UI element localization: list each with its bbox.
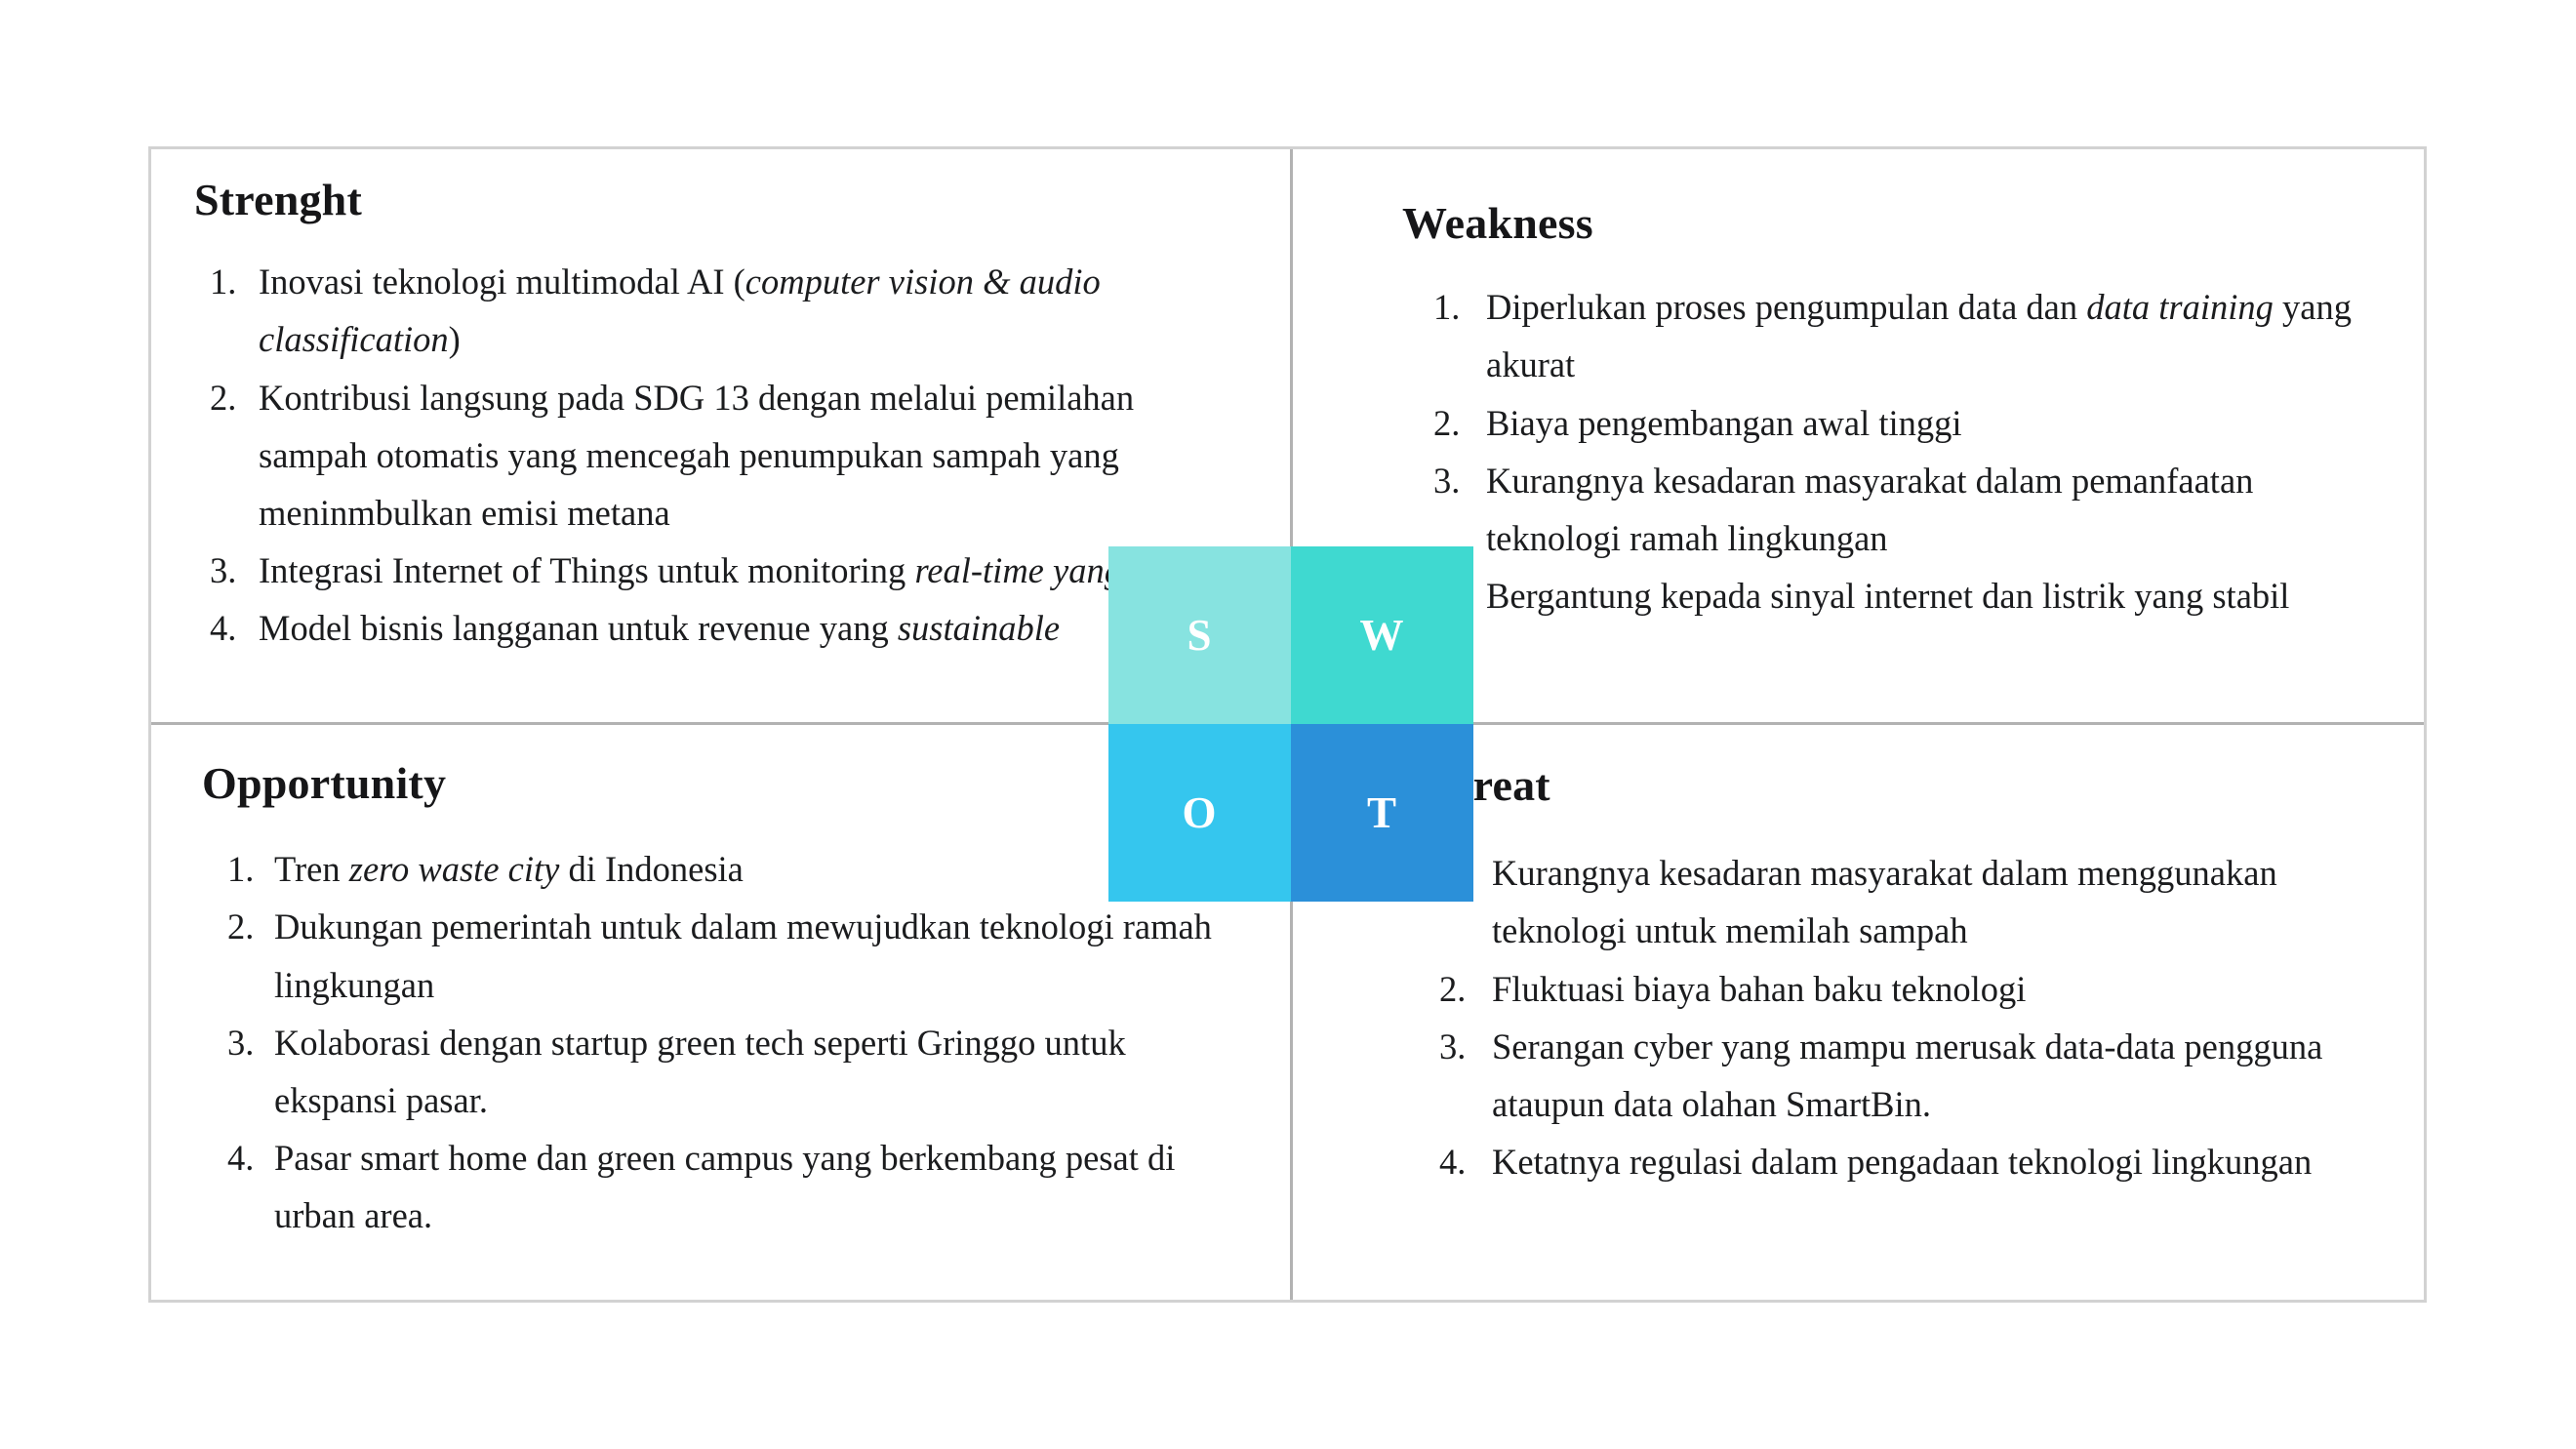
list-item: Kurangnya kesadaran masyarakat dalam men…	[1439, 844, 2395, 959]
plain-text: Fluktuasi biaya bahan baku teknologi	[1492, 969, 2026, 1009]
emphasis-text: sustainable	[898, 608, 1060, 648]
weakness-list: Diperlukan proses pengumpulan data dan d…	[1433, 278, 2395, 624]
plain-text: Kurangnya kesadaran masyarakat dalam pem…	[1486, 461, 2253, 558]
list-item: Pasar smart home dan green campus yang b…	[227, 1129, 1251, 1244]
list-item: Inovasi teknologi multimodal AI (compute…	[210, 253, 1251, 368]
swot-center-blocks: S W O T	[1108, 546, 1473, 902]
plain-text: Ketatnya regulasi dalam pengadaan teknol…	[1492, 1142, 2312, 1182]
plain-text: Inovasi teknologi multimodal AI (	[259, 262, 745, 302]
list-item: Kontribusi langsung pada SDG 13 dengan m…	[210, 369, 1251, 542]
list-item: Biaya pengembangan awal tinggi	[1433, 394, 2395, 452]
plain-text: )	[449, 319, 461, 359]
strength-list: Inovasi teknologi multimodal AI (compute…	[210, 253, 1251, 657]
plain-text: Diperlukan proses pengumpulan data dan	[1486, 287, 2086, 327]
plain-text: Tren	[274, 849, 349, 889]
quadrant-title-opportunity: Opportunity	[202, 760, 1251, 807]
swot-block-letter-w: W	[1360, 610, 1405, 661]
list-item: Diperlukan proses pengumpulan data dan d…	[1433, 278, 2395, 393]
plain-text: Serangan cyber yang mampu merusak data-d…	[1492, 1026, 2322, 1124]
plain-text: Biaya pengembangan awal tinggi	[1486, 403, 1962, 443]
swot-block-letter-o: O	[1182, 787, 1217, 838]
opportunity-list: Tren zero waste city di IndonesiaDukunga…	[227, 840, 1251, 1244]
list-item: Bergantung kepada sinyal internet dan li…	[1433, 567, 2395, 624]
emphasis-text: zero waste city	[349, 849, 560, 889]
emphasis-text: data training	[2086, 287, 2274, 327]
plain-text: Pasar smart home dan green campus yang b…	[274, 1138, 1175, 1235]
list-item: Kurangnya kesadaran masyarakat dalam pem…	[1433, 452, 2395, 567]
swot-block-o: O	[1108, 724, 1291, 902]
swot-block-letter-s: S	[1187, 610, 1212, 661]
quadrant-title-weakness: Weakness	[1402, 200, 2395, 247]
list-item: Tren zero waste city di Indonesia	[227, 840, 1251, 898]
quadrant-title-threat: Threat	[1418, 762, 2395, 809]
swot-block-letter-t: T	[1367, 787, 1397, 838]
threat-list: Kurangnya kesadaran masyarakat dalam men…	[1439, 844, 2395, 1190]
plain-text: di Indonesia	[559, 849, 744, 889]
plain-text: Integrasi Internet of Things untuk monit…	[259, 550, 914, 590]
plain-text: Bergantung kepada sinyal internet dan li…	[1486, 576, 2289, 616]
list-item: Dukungan pemerintah untuk dalam mewujudk…	[227, 898, 1251, 1013]
swot-block-w: W	[1291, 546, 1473, 724]
list-item: Ketatnya regulasi dalam pengadaan teknol…	[1439, 1133, 2395, 1190]
list-item: Serangan cyber yang mampu merusak data-d…	[1439, 1018, 2395, 1133]
swot-block-s: S	[1108, 546, 1291, 724]
list-item: Kolaborasi dengan startup green tech sep…	[227, 1014, 1251, 1129]
plain-text: Kontribusi langsung pada SDG 13 dengan m…	[259, 378, 1134, 533]
plain-text: Kolaborasi dengan startup green tech sep…	[274, 1023, 1126, 1120]
plain-text: Model bisnis langganan untuk revenue yan…	[259, 608, 898, 648]
list-item: Integrasi Internet of Things untuk monit…	[210, 542, 1251, 599]
quadrant-title-strength: Strenght	[194, 177, 1251, 223]
list-item: Fluktuasi biaya bahan baku teknologi	[1439, 960, 2395, 1018]
list-item: Model bisnis langganan untuk revenue yan…	[210, 599, 1251, 657]
plain-text: Kurangnya kesadaran masyarakat dalam men…	[1492, 853, 2277, 950]
swot-block-t: T	[1291, 724, 1473, 902]
plain-text: Dukungan pemerintah untuk dalam mewujudk…	[274, 906, 1212, 1004]
